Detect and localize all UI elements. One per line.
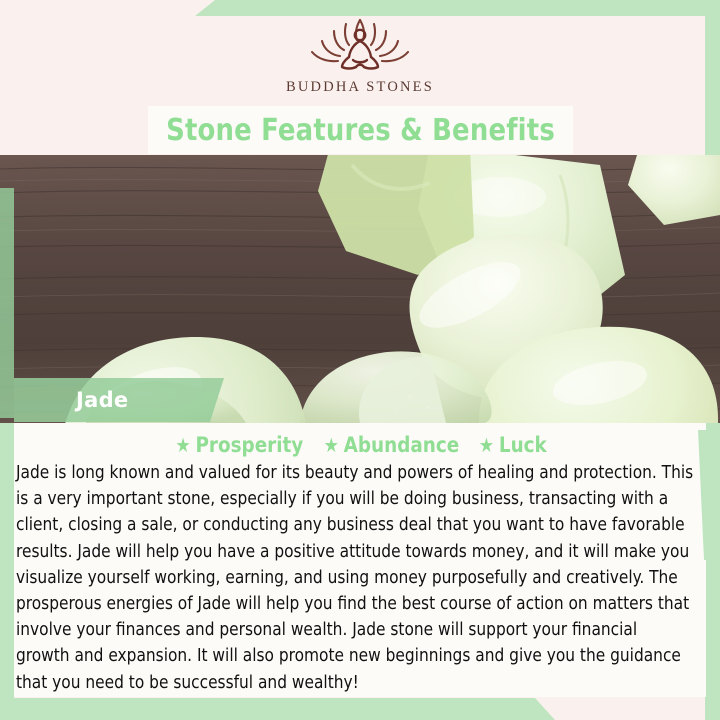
benefit-label: Abundance bbox=[344, 433, 460, 458]
page-title: Stone Features & Benefits bbox=[166, 113, 555, 148]
benefit-item-prosperity: ★ Prosperity bbox=[175, 433, 303, 458]
stone-label-band: Jade bbox=[14, 378, 224, 422]
star-icon: ★ bbox=[324, 435, 339, 455]
star-icon: ★ bbox=[479, 435, 494, 455]
benefit-label: Prosperity bbox=[195, 433, 303, 458]
benefit-item-abundance: ★ Abundance bbox=[324, 433, 460, 458]
benefits-row: ★ Prosperity ★ Abundance ★ Luck bbox=[0, 431, 720, 459]
star-icon: ★ bbox=[175, 435, 190, 455]
poster-canvas: BUDDHA STONES Stone Features & Benefits bbox=[0, 0, 720, 720]
decor-bottom-banner bbox=[0, 698, 555, 720]
title-banner: Stone Features & Benefits bbox=[148, 106, 573, 154]
brand-name: BUDDHA STONES bbox=[286, 79, 434, 96]
brand-logo: BUDDHA STONES bbox=[0, 14, 720, 106]
benefit-label: Luck bbox=[499, 433, 547, 458]
description-text: Jade is long known and valued for its be… bbox=[16, 460, 694, 696]
benefit-item-luck: ★ Luck bbox=[479, 433, 547, 458]
decor-left-photo-overlay bbox=[0, 188, 14, 418]
stone-label: Jade bbox=[76, 388, 128, 412]
lotus-meditation-icon bbox=[296, 14, 424, 78]
